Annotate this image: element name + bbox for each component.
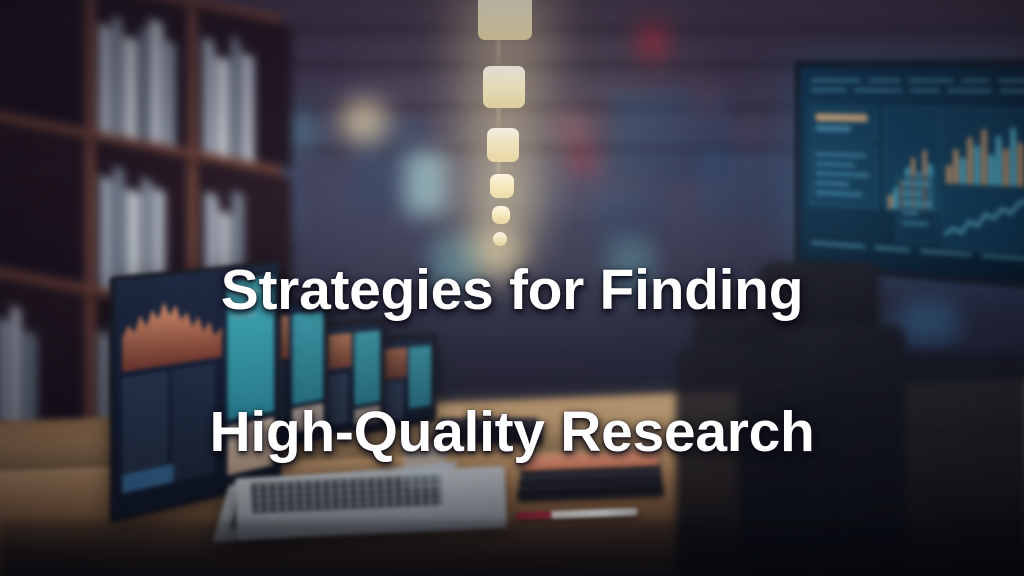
shelf-cubby bbox=[0, 0, 86, 129]
pendant-light bbox=[483, 66, 525, 108]
drinking-glass bbox=[404, 447, 446, 487]
pendant-light bbox=[493, 232, 507, 246]
background-screen bbox=[700, 150, 786, 220]
bokeh-square bbox=[608, 238, 654, 294]
shelf-cubby bbox=[95, 0, 188, 149]
pendant-light bbox=[490, 174, 514, 198]
pendant-light bbox=[478, 0, 532, 40]
shelf-cubby bbox=[197, 8, 292, 169]
pendant-light bbox=[487, 128, 519, 162]
shelf-cubby bbox=[0, 276, 86, 439]
desk-shadow bbox=[0, 520, 1024, 576]
bokeh-light bbox=[556, 112, 590, 144]
red-indicator-light bbox=[640, 24, 666, 58]
hero-banner: Strategies for Finding High-Quality Rese… bbox=[0, 0, 1024, 576]
bokeh-square bbox=[404, 150, 448, 216]
bokeh-square bbox=[430, 236, 480, 294]
red-indicator-light bbox=[700, 92, 716, 110]
monitor-glow bbox=[790, 66, 1024, 258]
red-indicator-light bbox=[572, 150, 592, 172]
shelf-cubby bbox=[0, 120, 86, 285]
pendant-light bbox=[492, 206, 510, 224]
bokeh-light bbox=[340, 98, 388, 144]
